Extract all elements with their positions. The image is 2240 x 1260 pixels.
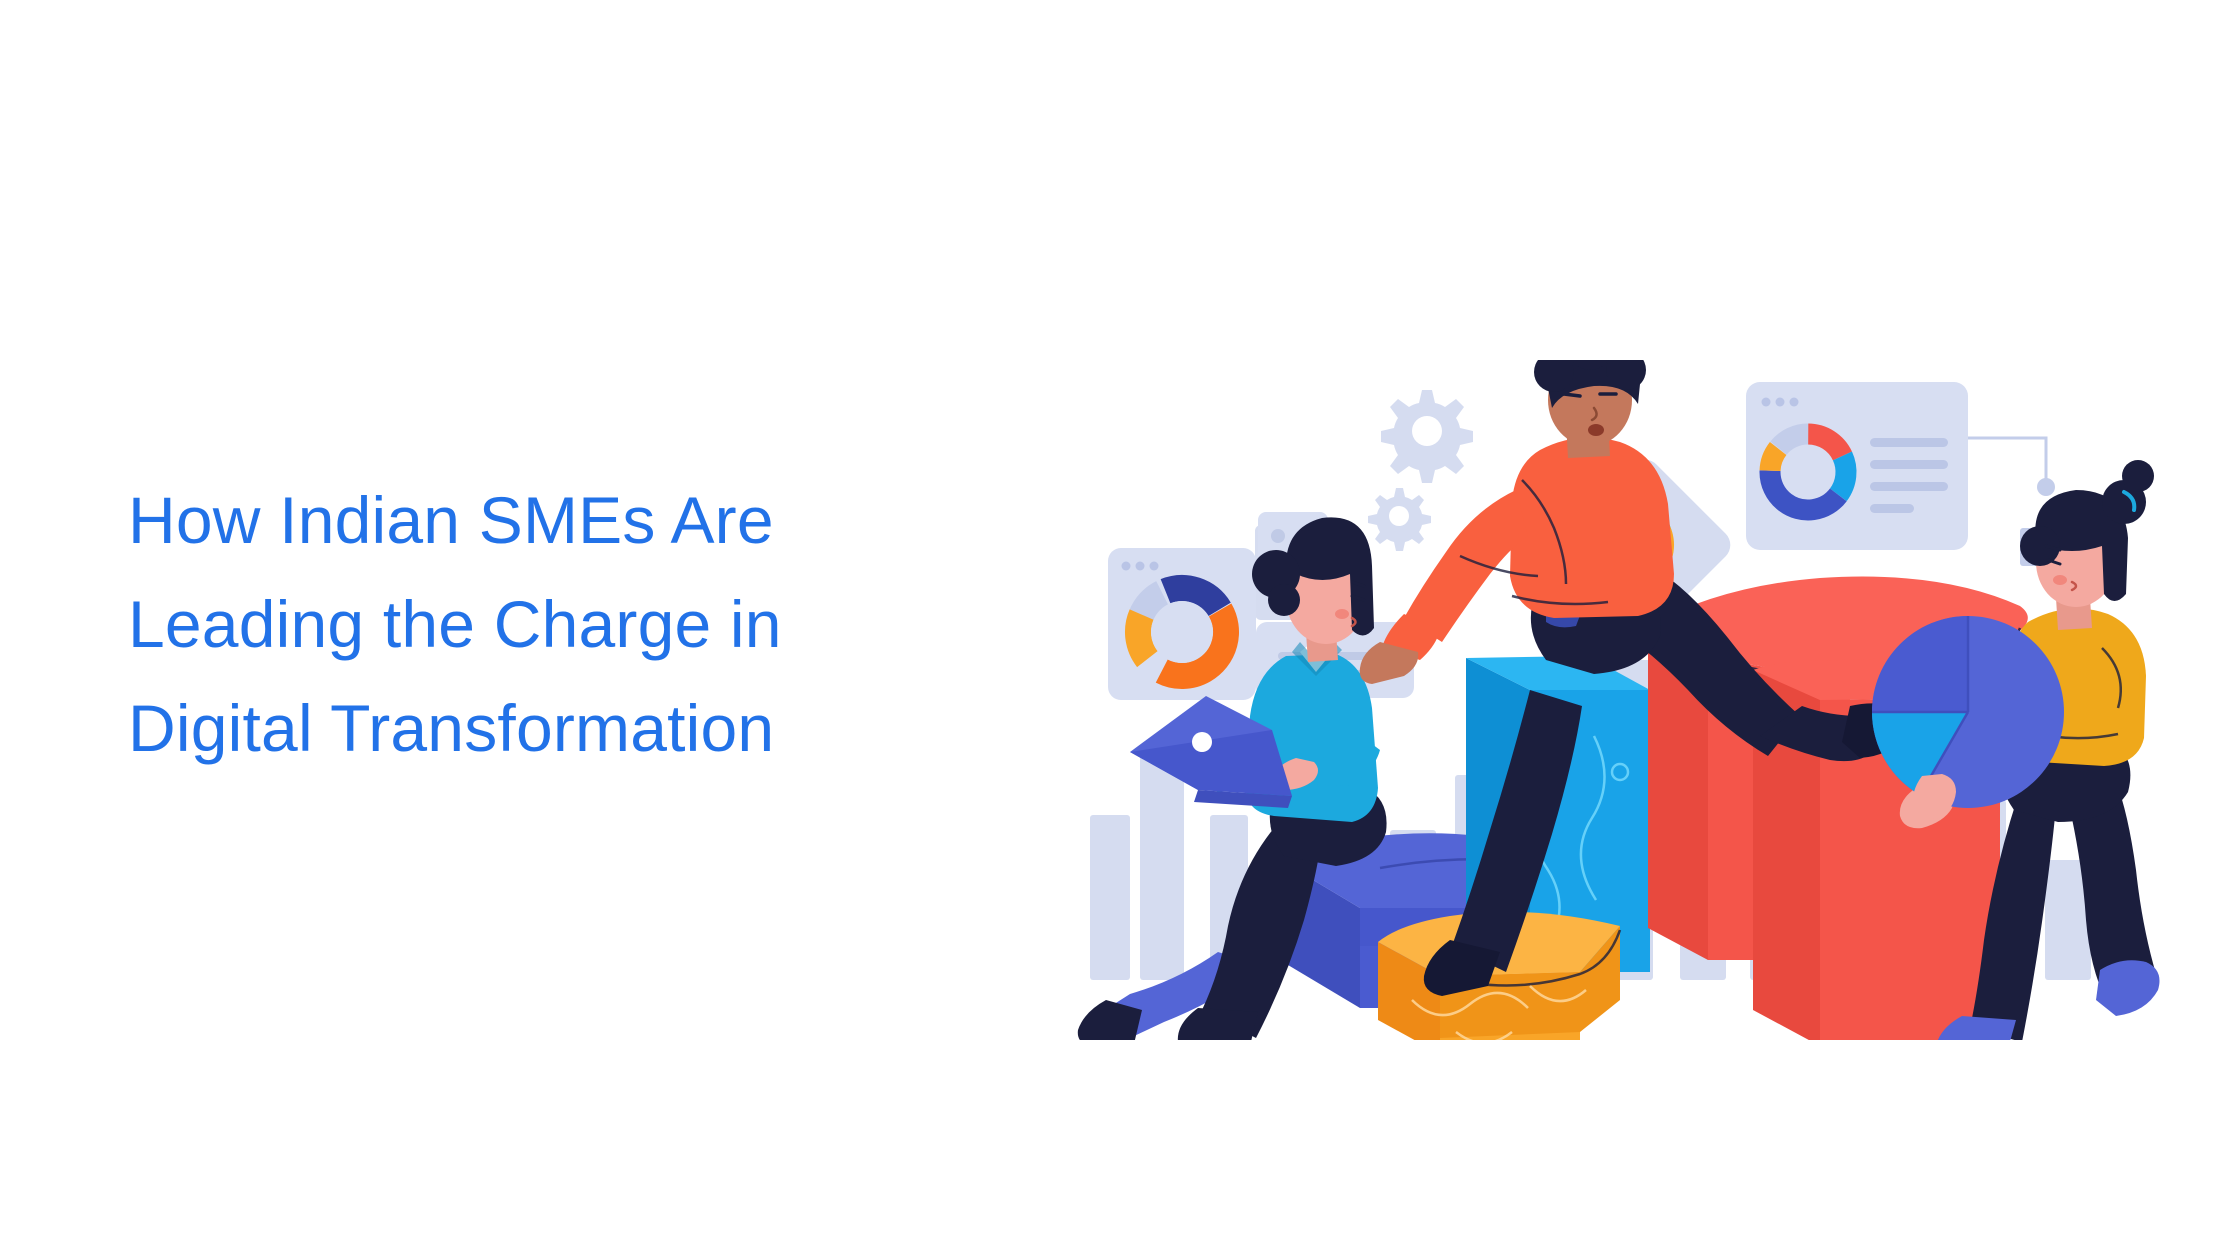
window-dot [1150,562,1159,571]
headline-line-2: Leading the Charge in [128,572,1028,676]
window-dot [1790,398,1799,407]
digital-transformation-illustration [1060,360,2200,1040]
window-dot [1776,398,1785,407]
donut-card-left[interactable] [1108,548,1256,700]
window-dot [1762,398,1771,407]
headline-line-3: Digital Transformation [128,676,1028,780]
connector-node [1968,438,2055,496]
window-dot [1136,562,1145,571]
gear-small-icon [1368,488,1431,551]
dashboard-card-right[interactable] [1746,382,1968,550]
page-title: How Indian SMEs Are Leading the Charge i… [128,468,1028,780]
headline-line-1: How Indian SMEs Are [128,468,1028,572]
image-icon [1271,529,1285,543]
pie-chart-disc [1872,616,2064,808]
window-dot [1122,562,1131,571]
gear-large-icon [1381,390,1473,483]
hero-page: How Indian SMEs Are Leading the Charge i… [0,0,2240,1260]
